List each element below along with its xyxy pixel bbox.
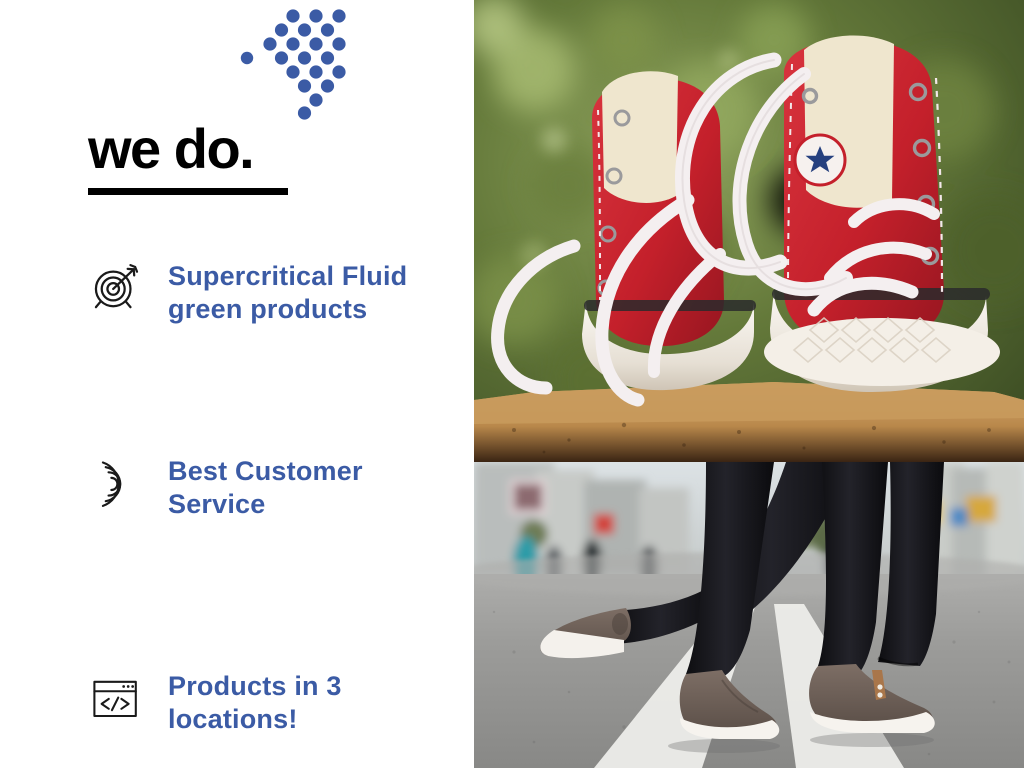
- feature-label-line1: Products in 3: [168, 671, 342, 701]
- brand-block: we do.: [88, 118, 448, 238]
- feature-label-line1: Supercritical Fluid: [168, 261, 407, 291]
- code-browser-window-icon: [86, 668, 146, 728]
- feature-label-line2: Service: [168, 489, 265, 519]
- feature-item-best-customer-service: Best CustomerService: [86, 453, 456, 521]
- feature-label: Best CustomerService: [168, 453, 456, 521]
- title-underline: [88, 188, 288, 195]
- slide-root: we do.: [0, 0, 1024, 768]
- feature-item-products-locations: Products in 3locations!: [86, 668, 456, 736]
- photo-column: [474, 0, 1024, 768]
- target-bullseye-arrow-icon: [86, 258, 146, 318]
- feature-item-supercritical-fluid: Supercritical Fluidgreen products: [86, 258, 456, 326]
- page-title: we do.: [88, 118, 253, 180]
- feature-label-line2: locations!: [168, 704, 298, 734]
- feature-label-line1: Best Customer: [168, 456, 363, 486]
- signal-waves-spiral-icon: [86, 453, 146, 513]
- feature-label: Supercritical Fluidgreen products: [168, 258, 456, 326]
- feature-label-line2: green products: [168, 294, 367, 324]
- red-sneakers-photo: [474, 0, 1024, 462]
- street-walking-photo: [474, 462, 1024, 768]
- dot-chevron-logo: [237, 0, 367, 122]
- left-content-panel: we do.: [0, 0, 474, 768]
- feature-label: Products in 3locations!: [168, 668, 456, 736]
